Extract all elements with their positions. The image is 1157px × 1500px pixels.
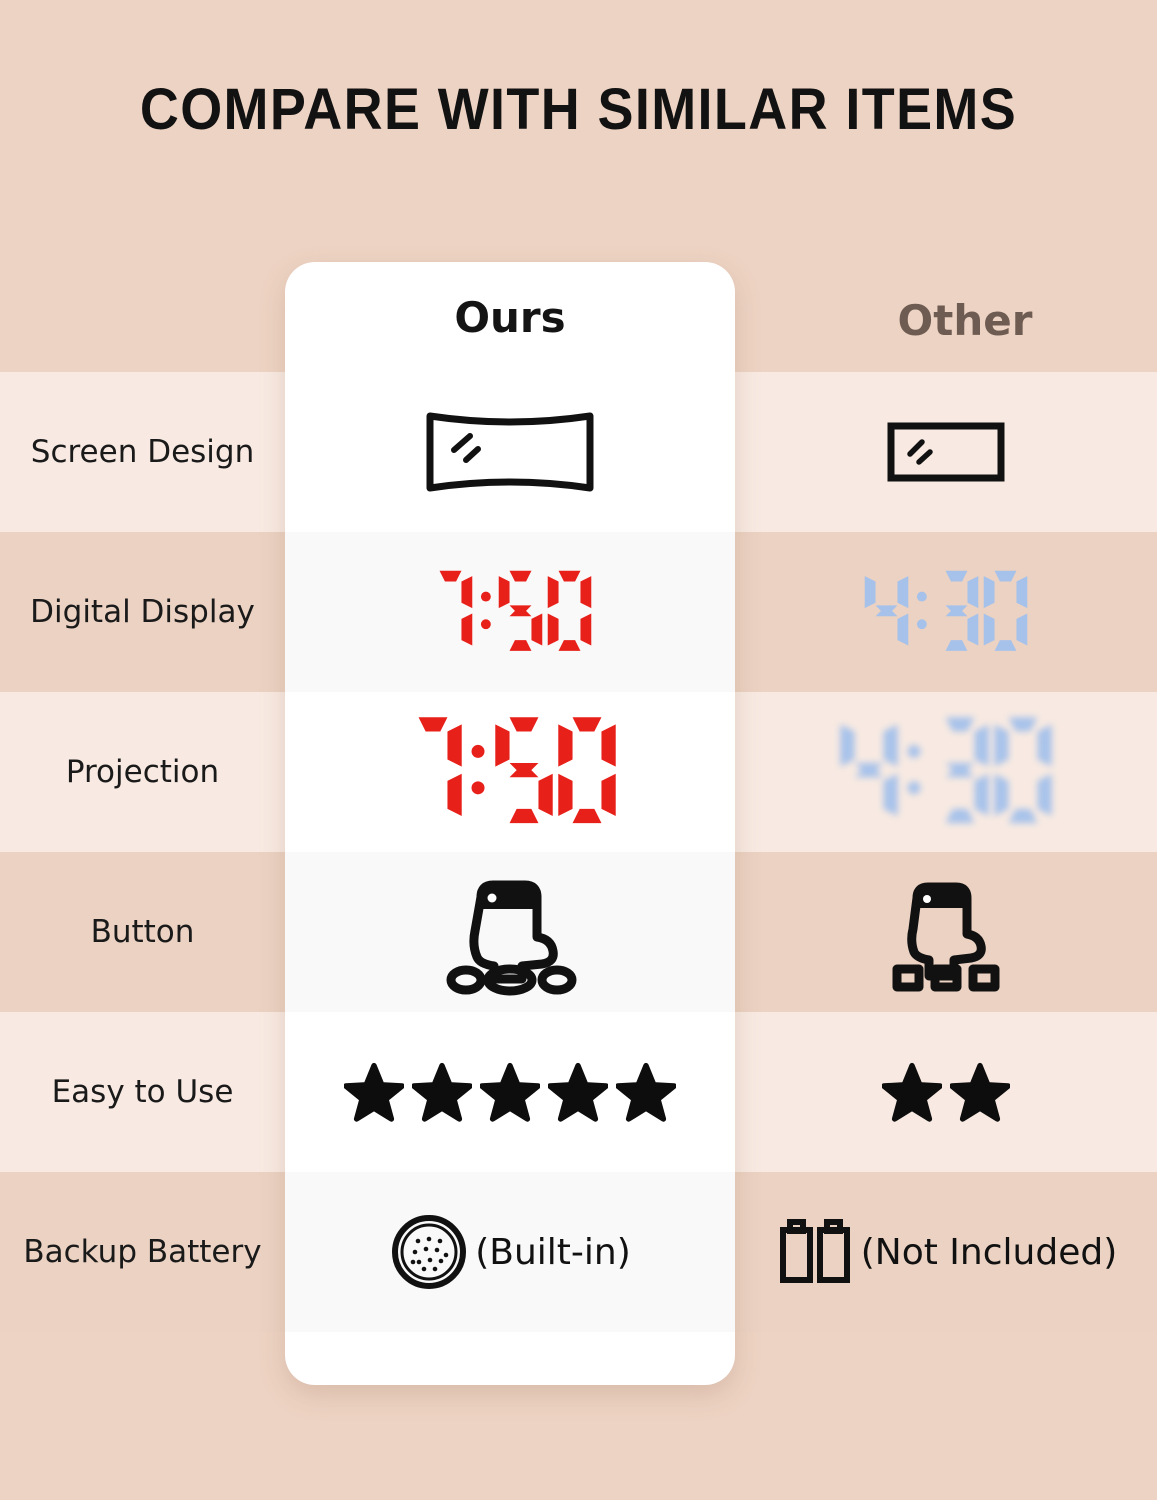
column-header-other: Other xyxy=(775,296,1155,345)
clock-colon xyxy=(476,569,496,656)
aa-batteries-icon xyxy=(775,1212,855,1292)
cell-easy-to-use-other xyxy=(735,1012,1157,1172)
clock-digit-5 xyxy=(493,715,555,828)
row-label-button: Button xyxy=(0,852,285,1012)
clock-digit-7 xyxy=(402,715,464,828)
star-rating-other xyxy=(878,1062,1014,1122)
page-title: COMPARE WITH SIMILAR ITEMS xyxy=(40,76,1116,143)
clock-digit-3 xyxy=(933,569,980,656)
backup-battery-note-ours: (Built-in) xyxy=(475,1232,631,1273)
clock-digit-3 xyxy=(929,715,991,828)
coin-cell-battery-icon xyxy=(389,1212,469,1292)
cell-projection-other xyxy=(735,692,1157,852)
star-icon xyxy=(480,1062,540,1122)
clock-colon xyxy=(465,715,491,828)
cell-screen-design-ours xyxy=(285,372,735,532)
comparison-infographic: COMPARE WITH SIMILAR ITEMS Ours Other Sc… xyxy=(0,0,1157,1500)
curved-screen-icon xyxy=(420,402,600,502)
star-icon xyxy=(344,1062,404,1122)
clock-digit-4 xyxy=(838,715,900,828)
star-icon xyxy=(616,1062,676,1122)
cell-screen-design-other xyxy=(735,372,1157,532)
clock-digit-0 xyxy=(992,715,1054,828)
cell-projection-ours xyxy=(285,692,735,852)
column-header-ours: Ours xyxy=(285,293,735,342)
clock-digit-0 xyxy=(556,715,618,828)
clock-colon xyxy=(912,569,932,656)
seven-segment-clock-icon-other-display xyxy=(862,569,1029,656)
seven-segment-clock-icon-other-projection xyxy=(837,715,1056,828)
backup-battery-note-other: (Not Included) xyxy=(861,1232,1118,1273)
cell-digital-display-other xyxy=(735,532,1157,692)
row-label-projection: Projection xyxy=(0,692,285,852)
row-label-easy-to-use: Easy to Use xyxy=(0,1012,285,1172)
cell-easy-to-use-ours xyxy=(285,1012,735,1172)
clock-digit-0 xyxy=(546,569,593,656)
row-label-digital-display: Digital Display xyxy=(0,532,285,692)
star-icon xyxy=(548,1062,608,1122)
clock-digit-7 xyxy=(427,569,474,656)
cell-digital-display-ours xyxy=(285,532,735,692)
star-icon xyxy=(950,1062,1010,1122)
star-icon xyxy=(412,1062,472,1122)
hand-pressing-round-buttons-icon xyxy=(435,867,585,997)
clock-digit-5 xyxy=(497,569,544,656)
star-icon xyxy=(882,1062,942,1122)
star-rating-ours xyxy=(340,1062,680,1122)
seven-segment-clock-icon-ours-projection xyxy=(401,715,620,828)
clock-digit-4 xyxy=(863,569,910,656)
cell-backup-battery-ours: (Built-in) xyxy=(285,1172,735,1332)
flat-screen-icon xyxy=(886,421,1006,483)
clock-digit-0 xyxy=(982,569,1029,656)
cell-button-other xyxy=(735,852,1157,1012)
row-label-screen-design: Screen Design xyxy=(0,372,285,532)
row-label-backup-battery: Backup Battery xyxy=(0,1172,285,1332)
hand-pressing-square-buttons-icon xyxy=(883,870,1009,994)
cell-button-ours xyxy=(285,852,735,1012)
cell-backup-battery-other: (Not Included) xyxy=(735,1172,1157,1332)
seven-segment-clock-icon-ours-display xyxy=(426,569,593,656)
clock-colon xyxy=(901,715,927,828)
